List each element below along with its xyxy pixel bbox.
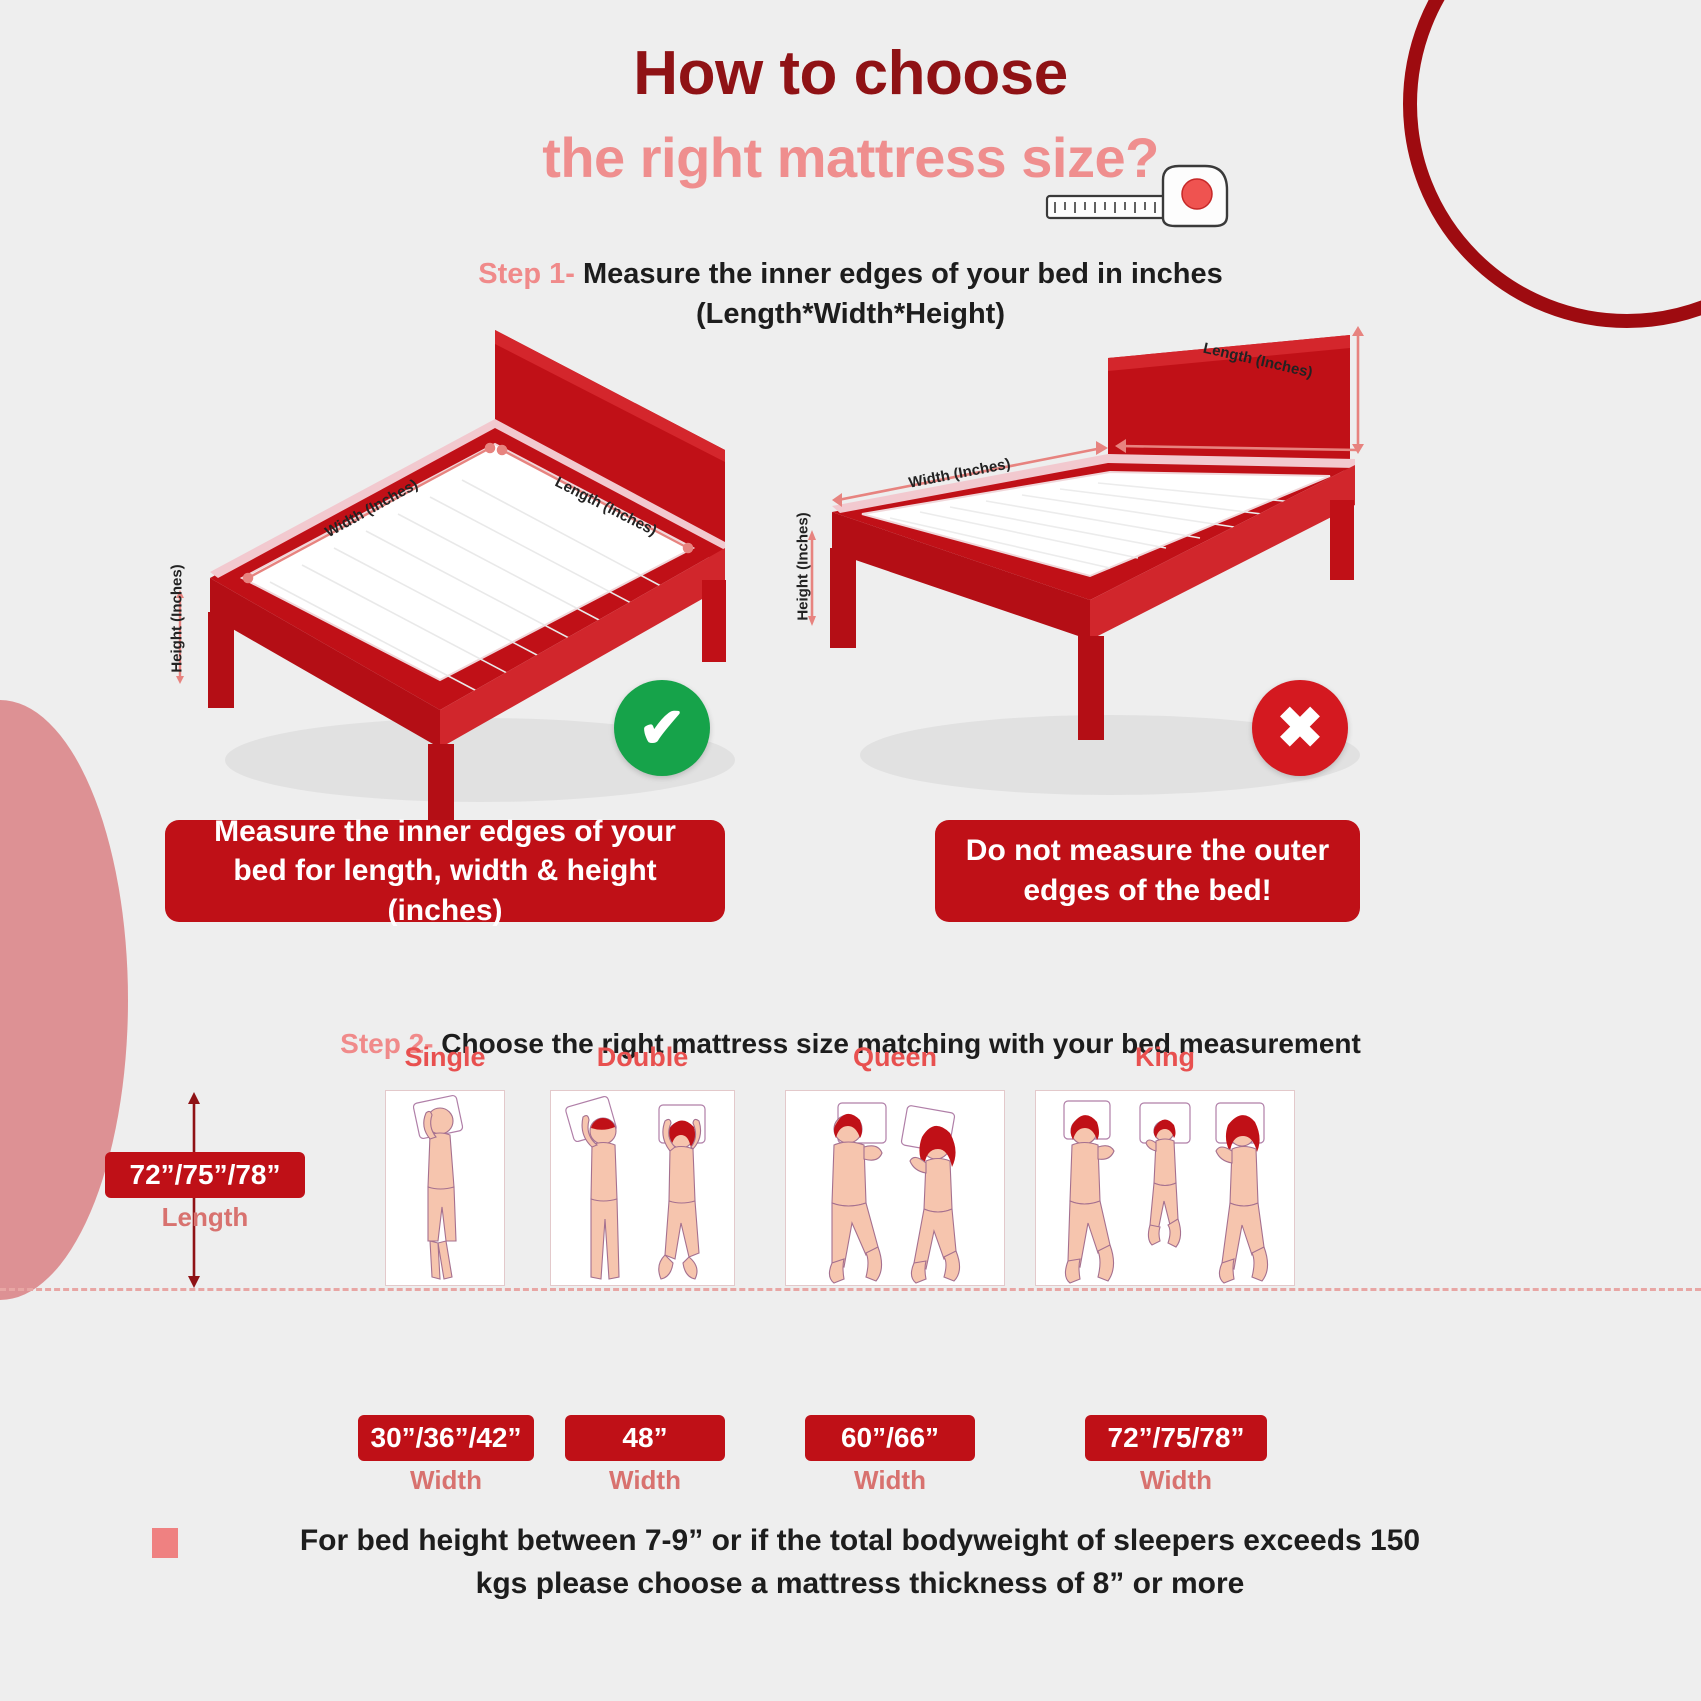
width-caption-queen: Width [805,1465,975,1496]
headboard-double [551,1090,734,1091]
check-badge: ✔ [614,680,710,776]
step1-label: Step 1- [478,258,575,290]
size-column-queen: Queen [785,1090,1005,1286]
footboard-king [1036,1285,1294,1286]
page-title-line1: How to choose [0,38,1701,109]
width-caption-single: Width [358,1465,534,1496]
width-pill-queen: 60”/66” [805,1415,975,1461]
width-caption-king: Width [1085,1465,1267,1496]
width-caption-double: Width [565,1465,725,1496]
mattress-double [550,1090,735,1286]
bed-left-height-label: Height (Inches) [169,544,186,694]
headboard-single [386,1090,504,1091]
callout-measure-inner: Measure the inner edges of your bed for … [165,820,725,922]
sleepers-queen [786,1091,1005,1286]
tape-measure-icon [1045,160,1235,240]
footboard-double [551,1285,734,1286]
size-column-king: King [1035,1090,1295,1286]
width-pill-single: 30”/36”/42” [358,1415,534,1461]
width-pill-king: 72”/75/78” [1085,1415,1267,1461]
mattress-king [1035,1090,1295,1286]
length-caption: Length [105,1202,305,1233]
size-label-single: Single [385,1042,505,1073]
size-column-double: Double [550,1090,735,1286]
size-label-double: Double [550,1042,735,1073]
baseline-dashed-divider [0,1288,1701,1291]
bed-right-height-label: Height (Inches) [795,492,812,642]
size-label-queen: Queen [785,1042,1005,1073]
footer-note-line2: kgs please choose a mattress thickness o… [150,1563,1570,1606]
headboard-queen [786,1090,1004,1091]
footboard-queen [786,1285,1004,1286]
sleepers-single [386,1091,505,1286]
footer-note-line1: For bed height between 7-9” or if the to… [150,1520,1570,1563]
headboard-king [1036,1090,1294,1091]
cross-badge: ✖ [1252,680,1348,776]
footer-note: For bed height between 7-9” or if the to… [150,1520,1570,1605]
callout-do-not-measure-outer: Do not measure the outer edges of the be… [935,820,1360,922]
width-pill-double: 48” [565,1415,725,1461]
page-title-line2: the right mattress size? [0,125,1701,190]
step1-line: Step 1- Measure the inner edges of your … [0,258,1701,291]
sleepers-double [551,1091,735,1286]
size-label-king: King [1035,1042,1295,1073]
mattress-single [385,1090,505,1286]
sleepers-king [1036,1091,1295,1286]
infographic-canvas: How to choose the right mattress size? S… [0,0,1701,1701]
mattress-queen [785,1090,1005,1286]
size-column-single: Single [385,1090,505,1286]
length-value-pill: 72”/75”/78” [105,1152,305,1198]
footboard-single [386,1285,504,1286]
step1-text: Measure the inner edges of your bed in i… [583,258,1223,290]
